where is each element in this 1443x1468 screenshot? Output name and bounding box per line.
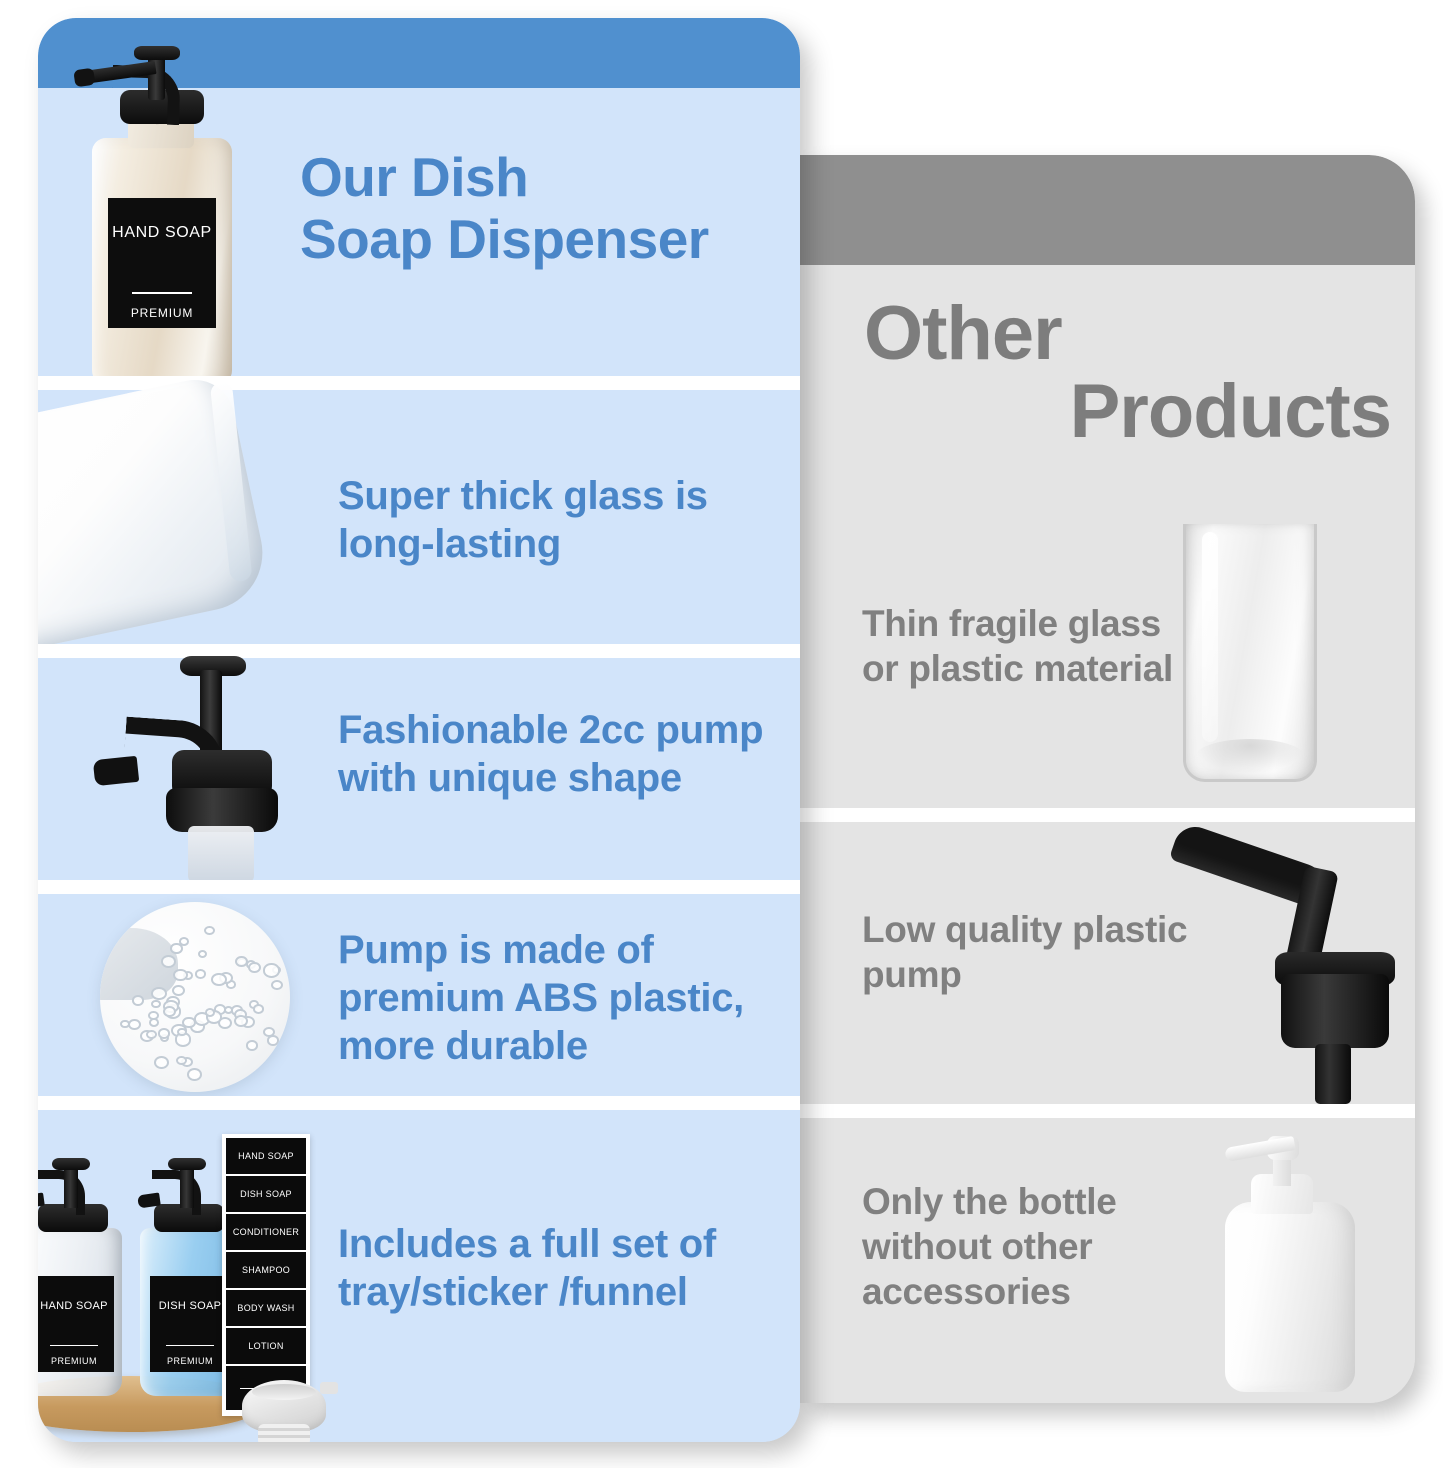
black-pump-image [38, 658, 338, 880]
abs-pellet [248, 962, 261, 973]
black-plastic-pump-image [1165, 822, 1415, 1104]
abs-pellet [176, 1056, 187, 1065]
funnel-image [234, 1380, 338, 1442]
other-products-panel: Other Products Thin fragile glass or pla… [800, 155, 1415, 1403]
hero-bottle-image: HAND SOAP PREMIUM [38, 88, 338, 376]
drawback-row-thin-glass: Thin fragile glass or plastic material [800, 510, 1415, 808]
feature-row-thick-glass: Super thick glass is long-lasting [38, 390, 800, 644]
sticker-sheet: HAND SOAPDISH SOAPCONDITIONERSHAMPOOBODY… [222, 1134, 310, 1416]
feature-text-2cc-pump: Fashionable 2cc pump with unique shape [338, 706, 798, 802]
glass-chunk-image [38, 390, 338, 644]
abs-pellet [195, 969, 206, 979]
abs-pellet [198, 950, 207, 958]
hero-bottle-label-bottom: PREMIUM [108, 306, 216, 320]
drawback-row-bottle-only: Only the bottle without other accessorie… [800, 1118, 1415, 1403]
white-bottle-image [1165, 1118, 1415, 1403]
our-product-title-line2: Soap Dispenser [300, 208, 709, 270]
other-products-header-bar [800, 155, 1415, 265]
bottle-set-image: HAND SOAP PREMIUM DISH SOAP PRE [38, 1110, 338, 1442]
abs-pellet [146, 1030, 157, 1039]
abs-pellet [179, 937, 189, 946]
drawback-text-bottle-only: Only the bottle without other accessorie… [862, 1180, 1192, 1314]
abs-pellet [271, 980, 284, 991]
abs-pellet [253, 1004, 264, 1014]
set-bottle-2-label-top: DISH SOAP [150, 1300, 230, 1312]
feature-row-full-set: HAND SOAP PREMIUM DISH SOAP PRE [38, 1110, 800, 1442]
abs-pellets-image [38, 894, 338, 1096]
feature-text-abs-plastic: Pump is made of premium ABS plastic, mor… [338, 926, 798, 1070]
feature-text-thick-glass: Super thick glass is long-lasting [338, 472, 798, 568]
sticker-0: HAND SOAP [226, 1138, 306, 1174]
abs-pellet [149, 1018, 160, 1027]
set-bottle-hand-soap: HAND SOAP PREMIUM [38, 1148, 128, 1398]
other-products-title: Other Products [800, 267, 1415, 487]
abs-pellet [211, 973, 227, 986]
row-separator [38, 1096, 800, 1110]
drawback-text-thin-glass: Thin fragile glass or plastic material [862, 602, 1192, 692]
abs-pellet [204, 926, 215, 936]
abs-pellet [187, 1068, 202, 1081]
drawback-row-cheap-pump: Low quality plastic pump [800, 822, 1415, 1104]
other-products-title-line1: Other [864, 291, 1062, 376]
row-separator [38, 880, 800, 894]
sticker-2: CONDITIONER [226, 1214, 306, 1250]
our-product-title: Our Dish Soap Dispenser [300, 146, 800, 270]
feature-row-abs-plastic: Pump is made of premium ABS plastic, mor… [38, 894, 800, 1096]
sticker-3: SHAMPOO [226, 1252, 306, 1288]
abs-pellet [246, 1040, 259, 1051]
abs-pellet [163, 1006, 176, 1017]
sticker-5: LOTION [226, 1328, 306, 1364]
feature-text-full-set: Includes a full set of tray/sticker /fun… [338, 1220, 798, 1316]
set-bottle-2-label-bottom: PREMIUM [150, 1356, 230, 1366]
set-bottle-1-label-top: HAND SOAP [38, 1300, 114, 1312]
other-products-title-line2: Products [864, 373, 1393, 451]
abs-pellet [151, 1000, 161, 1009]
hero-bottle-label: HAND SOAP PREMIUM [108, 198, 216, 328]
abs-pellet [263, 1027, 275, 1037]
drawback-text-cheap-pump: Low quality plastic pump [862, 908, 1192, 998]
abs-pellet [172, 985, 185, 996]
abs-pellet [173, 969, 188, 982]
row-separator [800, 808, 1415, 822]
our-product-panel: HAND SOAP PREMIUM Our Dish Soap Dispense… [38, 18, 800, 1442]
hero-row: HAND SOAP PREMIUM Our Dish Soap Dispense… [38, 88, 800, 376]
abs-pellet [263, 963, 280, 977]
abs-pellet [151, 987, 167, 1001]
hero-bottle-label-top: HAND SOAP [108, 224, 216, 242]
abs-pellet [154, 1056, 169, 1069]
feature-row-2cc-pump: Fashionable 2cc pump with unique shape [38, 658, 800, 880]
set-bottle-1-label-bottom: PREMIUM [38, 1356, 114, 1366]
our-product-title-line1: Our Dish [300, 146, 528, 208]
thin-glass-jar-image [1165, 510, 1415, 808]
row-separator [800, 1104, 1415, 1118]
abs-pellet [128, 1019, 141, 1030]
abs-pellet [177, 1028, 186, 1036]
abs-pellet [132, 995, 144, 1006]
sticker-1: DISH SOAP [226, 1176, 306, 1212]
sticker-4: BODY WASH [226, 1290, 306, 1326]
